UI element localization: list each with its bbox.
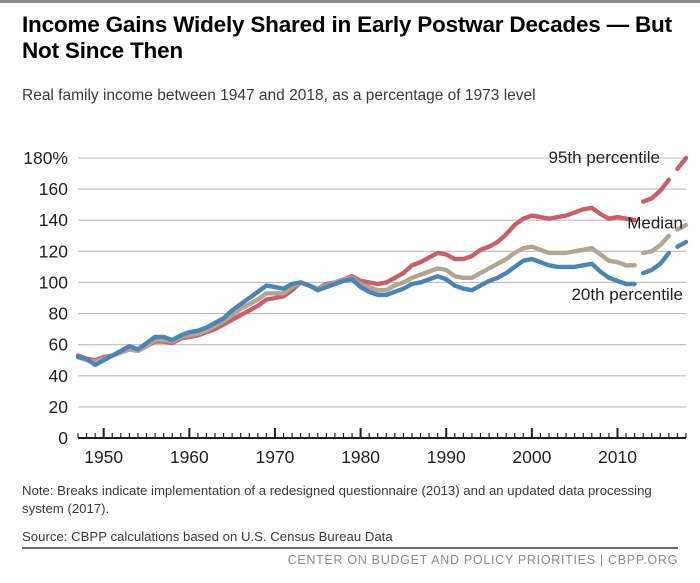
- chart-area: 020406080100120140160180% 19501960197019…: [0, 118, 700, 468]
- x-axis-tick-label: 1990: [427, 447, 466, 467]
- series-label-median: Median: [627, 213, 683, 232]
- chart-page: Income Gains Widely Shared in Early Post…: [0, 0, 700, 583]
- y-axis-tick-label: 0: [58, 428, 68, 448]
- series-line-95th-percentile: [677, 158, 686, 169]
- footer-credit: CENTER ON BUDGET AND POLICY PRIORITIES |…: [288, 553, 678, 567]
- page-title: Income Gains Widely Shared in Early Post…: [22, 12, 678, 64]
- series-line-95th-percentile: [643, 180, 669, 202]
- x-axis-tick-label: 1960: [170, 447, 209, 467]
- note-text: Note: Breaks indicate implementation of …: [22, 482, 682, 517]
- x-axis-tick-label: 1950: [84, 447, 123, 467]
- y-axis-tick-label: 60: [49, 335, 69, 355]
- x-axis-tick-label: 1970: [255, 447, 294, 467]
- y-axis-tick-label: 20: [49, 397, 69, 417]
- x-axis-group: [78, 428, 686, 438]
- series-line-median: [643, 236, 669, 253]
- series-label-95th-percentile: 95th percentile: [548, 148, 660, 167]
- footer-rule: [22, 547, 678, 549]
- y-axis-tick-label: 40: [49, 366, 69, 386]
- y-axis-tick-label: 80: [49, 304, 69, 324]
- line-chart: 020406080100120140160180% 19501960197019…: [0, 118, 700, 468]
- series-label-20th-percentile: 20th percentile: [571, 285, 683, 304]
- y-axis-tick-label: 100: [39, 272, 68, 292]
- x-axis-tick-label: 1980: [341, 447, 380, 467]
- x-axis-tick-label: 2010: [598, 447, 637, 467]
- series-line-20th-percentile: [78, 259, 635, 365]
- y-axis-tick-label: 180%: [23, 148, 68, 168]
- top-rule: [0, 0, 700, 3]
- x-axis-labels-group: 1950196019701980199020002010: [84, 447, 637, 467]
- series-line-20th-percentile: [677, 242, 686, 247]
- y-axis-tick-label: 140: [39, 210, 68, 230]
- notes-block: Note: Breaks indicate implementation of …: [22, 482, 682, 545]
- source-text: Source: CBPP calculations based on U.S. …: [22, 528, 682, 545]
- y-axis-tick-label: 120: [39, 241, 68, 261]
- series-line-20th-percentile: [643, 253, 669, 273]
- y-axis-tick-label: 160: [39, 179, 68, 199]
- x-axis-tick-label: 2000: [512, 447, 551, 467]
- y-axis-labels-group: 020406080100120140160180%: [23, 148, 68, 448]
- page-subtitle: Real family income between 1947 and 2018…: [22, 86, 682, 105]
